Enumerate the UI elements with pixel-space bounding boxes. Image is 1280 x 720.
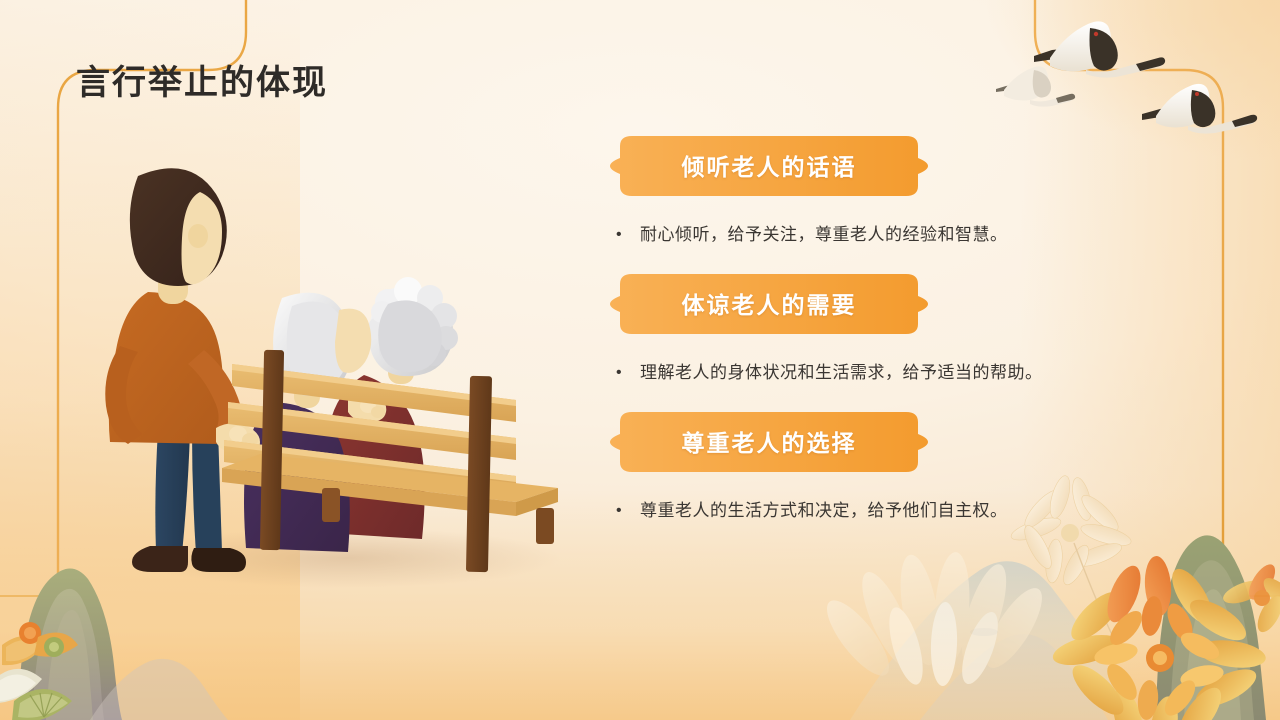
chrysanthemum-cluster-left xyxy=(0,622,78,720)
heading-text-1: 倾听老人的话语 xyxy=(604,132,934,200)
content-column: 倾听老人的话语 • 耐心倾听，给予关注，尊重老人的经验和智慧。 体谅老人的需要 xyxy=(604,132,1124,524)
heading-pill-3[interactable]: 尊重老人的选择 xyxy=(604,408,934,476)
bullet-row-3: • 尊重老人的生活方式和决定，给予他们自主权。 xyxy=(610,498,1124,524)
chrysanthemum-main xyxy=(1050,555,1268,720)
bullet-text-2: 理解老人的身体状况和生活需求，给予适当的帮助。 xyxy=(640,360,1043,386)
bullet-marker-2: • xyxy=(610,360,640,386)
bullet-row-2: • 理解老人的身体状况和生活需求，给予适当的帮助。 xyxy=(610,360,1124,386)
elderly-care-illustration xyxy=(96,150,616,590)
content-block-1: 倾听老人的话语 • 耐心倾听，给予关注，尊重老人的经验和智慧。 xyxy=(604,132,1124,248)
content-block-3: 尊重老人的选择 • 尊重老人的生活方式和决定，给予他们自主权。 xyxy=(604,408,1124,524)
crane-icon-3 xyxy=(1142,84,1257,134)
crane-icon-group xyxy=(990,0,1280,150)
heading-text-3: 尊重老人的选择 xyxy=(604,408,934,476)
pale-lotus-flower xyxy=(817,551,1052,688)
content-block-2: 体谅老人的需要 • 理解老人的身体状况和生活需求，给予适当的帮助。 xyxy=(604,270,1124,386)
bullet-marker-3: • xyxy=(610,498,640,524)
accent-flower-right xyxy=(1220,560,1280,636)
bullet-text-3: 尊重老人的生活方式和决定，给予他们自主权。 xyxy=(640,498,1008,524)
crane-icon-2 xyxy=(996,66,1075,106)
heading-text-2: 体谅老人的需要 xyxy=(604,270,934,338)
bullet-marker-1: • xyxy=(610,222,640,248)
heading-pill-2[interactable]: 体谅老人的需要 xyxy=(604,270,934,338)
bullet-row-1: • 耐心倾听，给予关注，尊重老人的经验和智慧。 xyxy=(610,222,1124,248)
slide-root: 言行举止的体现 xyxy=(0,0,1280,720)
page-title: 言行举止的体现 xyxy=(76,55,328,104)
bullet-text-1: 耐心倾听，给予关注，尊重老人的经验和智慧。 xyxy=(640,222,1008,248)
heading-pill-1[interactable]: 倾听老人的话语 xyxy=(604,132,934,200)
crane-icon-1 xyxy=(1034,21,1165,77)
